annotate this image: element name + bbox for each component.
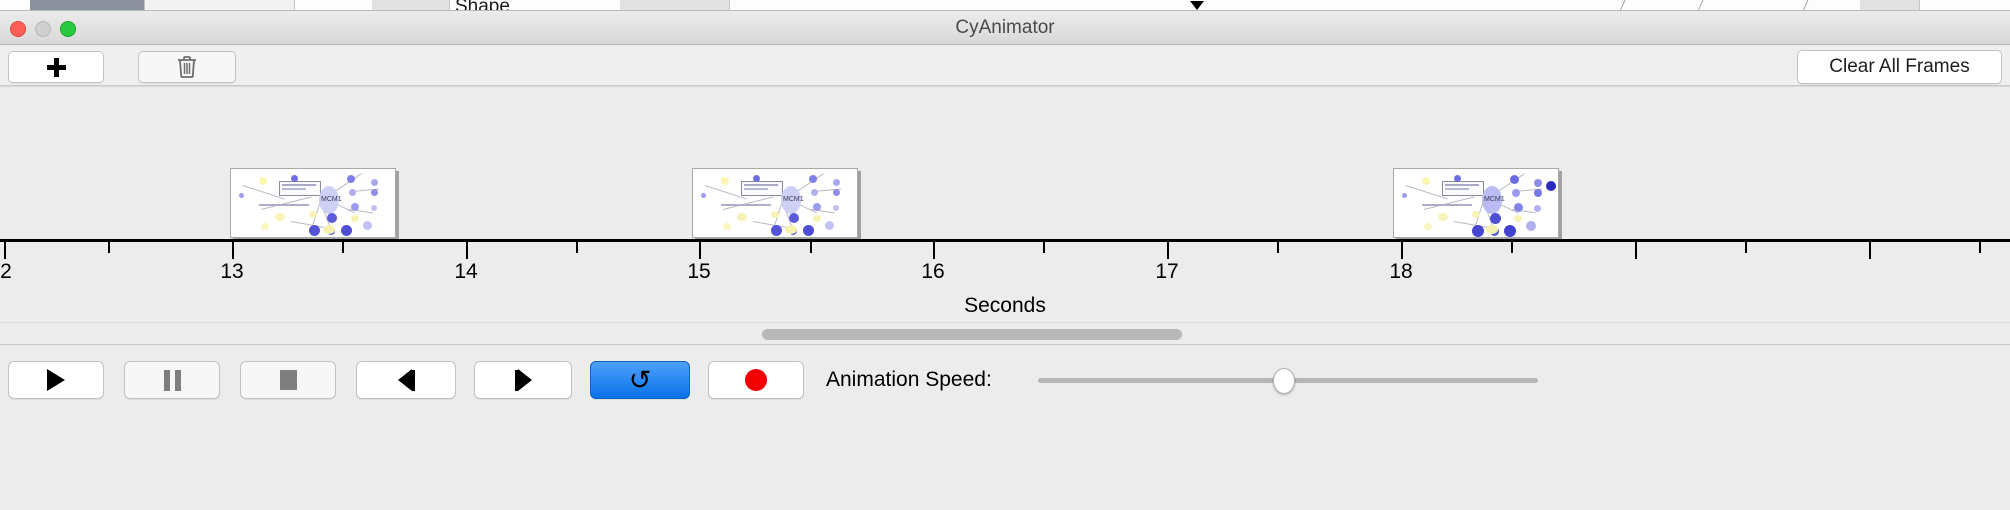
timeline-ruler[interactable]: 2 13 14 15 16 17 18 Seconds — [0, 242, 2010, 320]
bg-divider-3 — [1803, 0, 1809, 11]
ruler-tick-label: 14 — [454, 260, 477, 284]
bg-tab-a — [145, 0, 295, 11]
skip-to-start-button[interactable] — [356, 361, 456, 399]
loop-button[interactable]: ↺ — [590, 361, 690, 399]
close-button-icon[interactable] — [10, 21, 26, 37]
stop-icon — [280, 370, 297, 390]
frame-thumbnail[interactable]: MCM1 — [1393, 168, 1559, 238]
trash-icon — [176, 55, 198, 79]
skip-to-start-icon — [398, 369, 415, 391]
ruler-tick-label: 15 — [687, 260, 710, 284]
bg-divider-2 — [1698, 0, 1704, 11]
ruler-tick-label: 17 — [1155, 260, 1178, 284]
slider-thumb[interactable] — [1273, 368, 1295, 394]
play-button[interactable] — [8, 361, 104, 399]
record-button[interactable] — [708, 361, 804, 399]
network-preview: MCM1 — [1394, 169, 1558, 237]
add-frame-button[interactable] — [8, 51, 104, 83]
skip-to-end-button[interactable] — [474, 361, 572, 399]
hub-node-label: MCM1 — [1484, 196, 1505, 203]
loop-icon: ↺ — [629, 367, 652, 394]
zoom-button-icon[interactable] — [60, 21, 76, 37]
delete-frame-button[interactable] — [138, 51, 236, 83]
hub-node-label: MCM1 — [321, 196, 342, 203]
bg-caret-icon — [1190, 1, 1204, 10]
stop-button[interactable] — [240, 361, 336, 399]
window-title: CyAnimator — [0, 11, 2010, 45]
minimize-button-icon[interactable] — [35, 21, 51, 37]
ruler-tick-label: 13 — [220, 260, 243, 284]
traffic-light-group — [10, 21, 76, 37]
frame-thumbnail[interactable]: MCM1 — [692, 168, 858, 238]
ruler-tick-label: 18 — [1389, 260, 1412, 284]
clear-all-frames-button[interactable]: Clear All Frames — [1797, 50, 2002, 84]
background-window-strip: Shape — [0, 0, 2010, 11]
cyanimator-window: Shape CyAnimator Clear All Frames — [0, 0, 2010, 510]
pause-icon — [164, 370, 181, 391]
scrollbar-thumb[interactable] — [762, 329, 1182, 340]
bg-tab-c — [620, 0, 730, 11]
record-icon — [745, 369, 767, 391]
toolbar: Clear All Frames — [0, 45, 2010, 86]
play-icon — [47, 369, 65, 391]
frame-thumbnail[interactable]: MCM1 — [230, 168, 396, 238]
title-bar: CyAnimator — [0, 11, 2010, 45]
animation-speed-slider[interactable] — [1038, 361, 1538, 399]
animation-speed-label: Animation Speed: — [826, 361, 992, 399]
timeline-panel[interactable]: MCM1 — [0, 86, 2010, 239]
timeline-scrollbar[interactable] — [0, 322, 2010, 344]
bg-tab-d — [1860, 0, 1920, 11]
axis-title: Seconds — [0, 294, 2010, 318]
plus-icon — [47, 58, 66, 77]
ruler-tick-label: 16 — [921, 260, 944, 284]
skip-to-end-icon — [515, 369, 532, 391]
bg-window-text: Shape — [455, 0, 510, 11]
timeline-track[interactable]: MCM1 — [0, 86, 2010, 239]
hub-node-label: MCM1 — [783, 196, 804, 203]
bg-tab-dark — [30, 0, 145, 11]
ruler-tick-label: 2 — [0, 260, 12, 284]
bg-divider-1 — [1620, 0, 1626, 11]
network-preview: MCM1 — [693, 169, 857, 237]
pause-button[interactable] — [124, 361, 220, 399]
network-preview: MCM1 — [231, 169, 395, 237]
bg-tab-b — [372, 0, 450, 11]
playback-controls: ↺ Animation Speed: — [0, 344, 2010, 510]
